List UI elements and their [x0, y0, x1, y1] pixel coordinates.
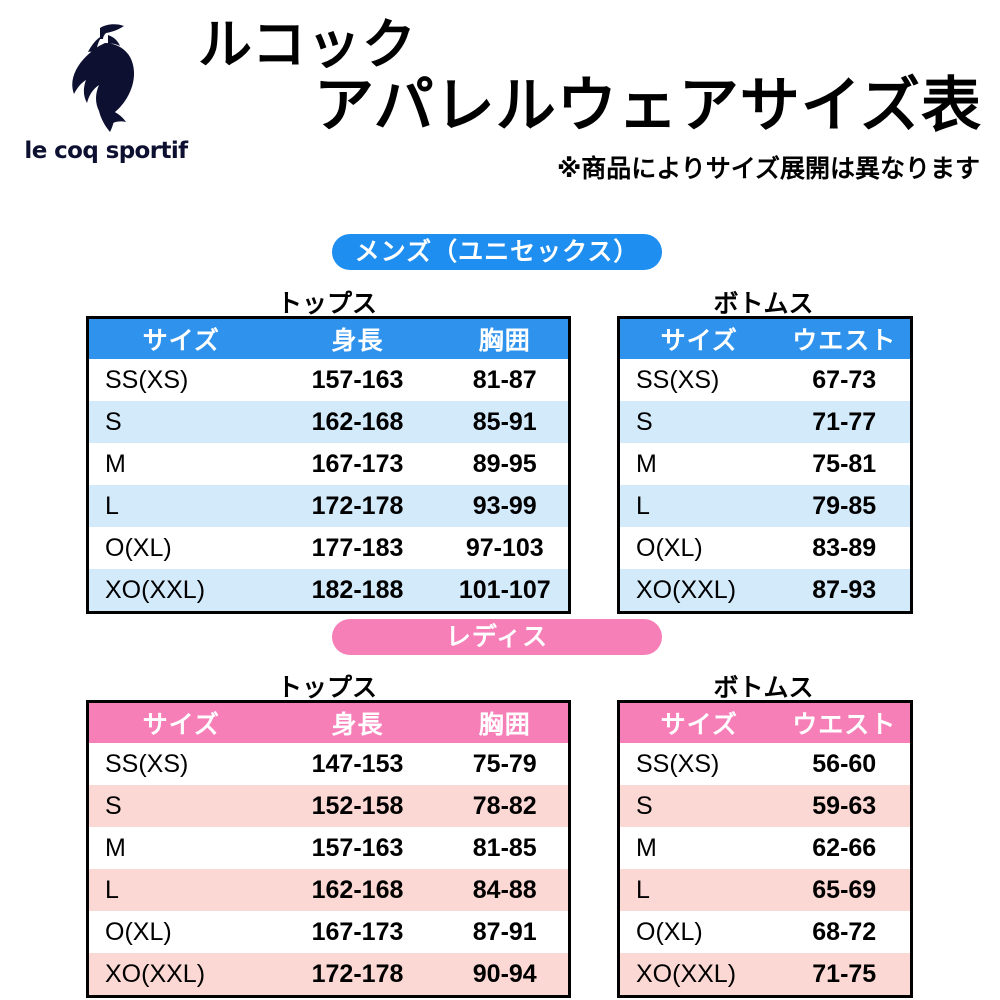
- table-row: S71-77: [619, 401, 912, 443]
- table-row: M167-17389-95: [88, 443, 570, 485]
- cell-chest: 84-88: [442, 869, 570, 911]
- cell-chest: 90-94: [442, 953, 570, 997]
- table-header-row: サイズ 身長 胸囲: [88, 702, 570, 744]
- brand-logo: le coq sportif: [22, 22, 190, 172]
- table-row: O(XL)177-18397-103: [88, 527, 570, 569]
- cell-height: 157-163: [274, 359, 442, 401]
- column-header-size: サイズ: [619, 318, 779, 360]
- table-row: M75-81: [619, 443, 912, 485]
- caption-ladies-bottoms: ボトムス: [617, 668, 910, 704]
- cell-size: SS(XS): [88, 359, 274, 401]
- cell-waist: 71-75: [779, 953, 912, 997]
- table-row: O(XL)83-89: [619, 527, 912, 569]
- cell-height: 167-173: [274, 911, 442, 953]
- cell-height: 157-163: [274, 827, 442, 869]
- cell-waist: 79-85: [779, 485, 912, 527]
- page-title-line-2: アパレルウェアサイズ表: [180, 74, 990, 139]
- cell-height: 177-183: [274, 527, 442, 569]
- cell-waist: 65-69: [779, 869, 912, 911]
- table-header-row: サイズ 身長 胸囲: [88, 318, 570, 360]
- cell-size: L: [619, 485, 779, 527]
- table-row: S162-16885-91: [88, 401, 570, 443]
- cell-height: 172-178: [274, 485, 442, 527]
- column-header-height: 身長: [274, 702, 442, 744]
- cell-height: 162-168: [274, 869, 442, 911]
- cell-size: O(XL): [619, 911, 779, 953]
- page-title-note: ※商品によりサイズ展開は異なります: [180, 149, 990, 185]
- table-row: L65-69: [619, 869, 912, 911]
- cell-size: O(XL): [88, 911, 274, 953]
- cell-size: XO(XXL): [619, 953, 779, 997]
- table-ladies-tops: サイズ 身長 胸囲 SS(XS)147-15375-79 S152-15878-…: [86, 700, 571, 998]
- table-row: S152-15878-82: [88, 785, 570, 827]
- cell-height: 182-188: [274, 569, 442, 613]
- caption-ladies-tops: トップス: [86, 668, 568, 704]
- cell-waist: 87-93: [779, 569, 912, 613]
- section-badge-mens: メンズ（ユニセックス）: [332, 234, 662, 270]
- cell-size: S: [88, 785, 274, 827]
- table-row: L162-16884-88: [88, 869, 570, 911]
- table-row: XO(XXL)71-75: [619, 953, 912, 997]
- cell-waist: 56-60: [779, 743, 912, 785]
- table-mens-tops: サイズ 身長 胸囲 SS(XS)157-16381-87 S162-16885-…: [86, 316, 571, 614]
- table-row: L172-17893-99: [88, 485, 570, 527]
- table-row: O(XL)167-17387-91: [88, 911, 570, 953]
- cell-size: L: [88, 485, 274, 527]
- cell-waist: 59-63: [779, 785, 912, 827]
- column-header-chest: 胸囲: [442, 702, 570, 744]
- page-header: le coq sportif ルコック アパレルウェアサイズ表 ※商品によりサイ…: [0, 0, 1000, 210]
- cell-height: 152-158: [274, 785, 442, 827]
- cell-waist: 71-77: [779, 401, 912, 443]
- cell-size: S: [619, 401, 779, 443]
- table-row: M157-16381-85: [88, 827, 570, 869]
- table-body: SS(XS)157-16381-87 S162-16885-91 M167-17…: [88, 359, 570, 613]
- table-row: XO(XXL)87-93: [619, 569, 912, 613]
- cell-size: S: [88, 401, 274, 443]
- cell-size: L: [619, 869, 779, 911]
- cell-size: SS(XS): [88, 743, 274, 785]
- cell-chest: 75-79: [442, 743, 570, 785]
- column-header-size: サイズ: [88, 702, 274, 744]
- cell-waist: 67-73: [779, 359, 912, 401]
- caption-mens-tops: トップス: [86, 284, 568, 320]
- cell-height: 167-173: [274, 443, 442, 485]
- table-row: SS(XS)147-15375-79: [88, 743, 570, 785]
- cell-size: SS(XS): [619, 743, 779, 785]
- cell-size: M: [619, 827, 779, 869]
- rooster-icon: [50, 22, 158, 136]
- cell-size: L: [88, 869, 274, 911]
- cell-chest: 93-99: [442, 485, 570, 527]
- column-header-waist: ウエスト: [779, 702, 912, 744]
- cell-waist: 83-89: [779, 527, 912, 569]
- table-header-row: サイズ ウエスト: [619, 318, 912, 360]
- table-row: O(XL)68-72: [619, 911, 912, 953]
- page-title: ルコック アパレルウェアサイズ表 ※商品によりサイズ展開は異なります: [180, 16, 990, 185]
- column-header-size: サイズ: [88, 318, 274, 360]
- cell-chest: 97-103: [442, 527, 570, 569]
- cell-waist: 68-72: [779, 911, 912, 953]
- cell-size: O(XL): [619, 527, 779, 569]
- table-body: SS(XS)67-73 S71-77 M75-81 L79-85 O(XL)83…: [619, 359, 912, 613]
- cell-size: SS(XS): [619, 359, 779, 401]
- page-title-line-1: ルコック: [180, 16, 990, 74]
- table-ladies-bottoms: サイズ ウエスト SS(XS)56-60 S59-63 M62-66 L65-6…: [617, 700, 913, 998]
- cell-height: 147-153: [274, 743, 442, 785]
- column-header-chest: 胸囲: [442, 318, 570, 360]
- table-row: SS(XS)157-16381-87: [88, 359, 570, 401]
- column-header-size: サイズ: [619, 702, 779, 744]
- cell-chest: 81-85: [442, 827, 570, 869]
- table-row: XO(XXL)172-17890-94: [88, 953, 570, 997]
- column-header-waist: ウエスト: [779, 318, 912, 360]
- cell-chest: 89-95: [442, 443, 570, 485]
- cell-waist: 75-81: [779, 443, 912, 485]
- table-row: XO(XXL)182-188101-107: [88, 569, 570, 613]
- cell-chest: 78-82: [442, 785, 570, 827]
- cell-size: XO(XXL): [88, 953, 274, 997]
- table-row: SS(XS)67-73: [619, 359, 912, 401]
- cell-size: S: [619, 785, 779, 827]
- cell-chest: 101-107: [442, 569, 570, 613]
- table-row: SS(XS)56-60: [619, 743, 912, 785]
- table-mens-bottoms: サイズ ウエスト SS(XS)67-73 S71-77 M75-81 L79-8…: [617, 316, 913, 614]
- cell-height: 172-178: [274, 953, 442, 997]
- cell-size: O(XL): [88, 527, 274, 569]
- cell-size: M: [619, 443, 779, 485]
- cell-waist: 62-66: [779, 827, 912, 869]
- caption-mens-bottoms: ボトムス: [617, 284, 910, 320]
- table-row: L79-85: [619, 485, 912, 527]
- cell-size: M: [88, 827, 274, 869]
- section-badge-ladies: レディス: [332, 619, 662, 655]
- cell-size: M: [88, 443, 274, 485]
- cell-chest: 81-87: [442, 359, 570, 401]
- column-header-height: 身長: [274, 318, 442, 360]
- table-body: SS(XS)56-60 S59-63 M62-66 L65-69 O(XL)68…: [619, 743, 912, 997]
- cell-size: XO(XXL): [88, 569, 274, 613]
- cell-size: XO(XXL): [619, 569, 779, 613]
- cell-chest: 85-91: [442, 401, 570, 443]
- table-header-row: サイズ ウエスト: [619, 702, 912, 744]
- cell-height: 162-168: [274, 401, 442, 443]
- table-body: SS(XS)147-15375-79 S152-15878-82 M157-16…: [88, 743, 570, 997]
- table-row: S59-63: [619, 785, 912, 827]
- cell-chest: 87-91: [442, 911, 570, 953]
- table-row: M62-66: [619, 827, 912, 869]
- brand-wordmark: le coq sportif: [22, 138, 190, 164]
